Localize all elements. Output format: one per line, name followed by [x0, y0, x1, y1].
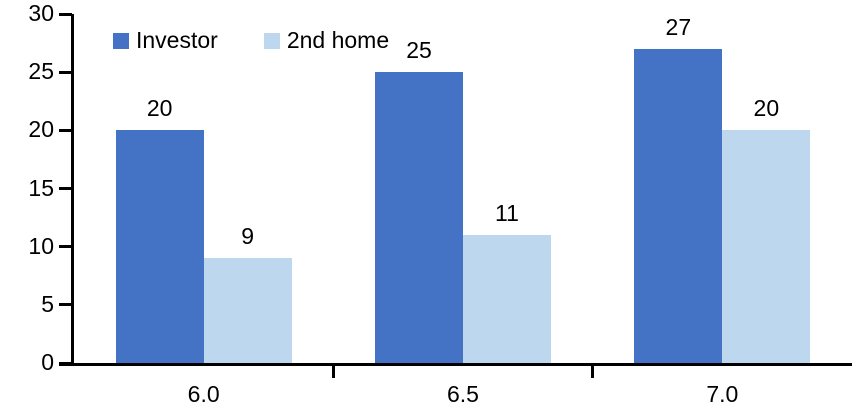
bar-value-label: 9: [203, 225, 293, 248]
x-axis-tick-label: 6.5: [403, 382, 523, 406]
bar-chart: 051015202530 20925112720 6.06.57.0 Inves…: [0, 0, 852, 410]
x-axis-tick: [332, 366, 335, 378]
legend-entry-2nd-home[interactable]: 2nd home: [264, 29, 389, 52]
bar-2nd-home-7.0[interactable]: [722, 130, 810, 363]
bar-investor-6.5[interactable]: [375, 72, 463, 363]
bar-value-label: 27: [633, 16, 723, 39]
y-axis-tick: [59, 13, 72, 16]
chart-legend: Investor2nd home: [113, 29, 389, 52]
y-axis-tick: [59, 187, 72, 190]
y-axis-tick-label: 5: [8, 293, 54, 316]
bar-2nd-home-6.0[interactable]: [204, 258, 292, 363]
plot-area: [74, 14, 852, 363]
second-home-swatch: [264, 33, 280, 49]
bar-value-label: 11: [462, 202, 552, 225]
y-axis-tick-label: 15: [8, 177, 54, 200]
y-axis-tick-label: 25: [8, 60, 54, 83]
bar-investor-7.0[interactable]: [634, 49, 722, 363]
investor-swatch: [113, 33, 129, 49]
y-axis-tick-label: 10: [8, 235, 54, 258]
x-axis-line: [59, 363, 852, 366]
y-axis-tick: [59, 71, 72, 74]
y-axis-tick: [59, 303, 72, 306]
legend-entry-investor[interactable]: Investor: [113, 29, 218, 52]
x-axis-tick: [591, 366, 594, 378]
y-axis-tick: [59, 129, 72, 132]
bar-value-label: 20: [115, 97, 205, 120]
y-axis-tick-label: 20: [8, 118, 54, 141]
legend-label: 2nd home: [287, 29, 389, 52]
legend-label: Investor: [136, 29, 218, 52]
bar-value-label: 20: [721, 97, 811, 120]
bar-2nd-home-6.5[interactable]: [463, 235, 551, 363]
y-axis-tick: [59, 245, 72, 248]
y-axis-tick-label: 0: [8, 351, 54, 374]
x-axis-tick-label: 6.0: [144, 382, 264, 406]
y-axis-tick-label: 30: [8, 2, 54, 25]
bar-investor-6.0[interactable]: [116, 130, 204, 363]
x-axis-tick-label: 7.0: [662, 382, 782, 406]
